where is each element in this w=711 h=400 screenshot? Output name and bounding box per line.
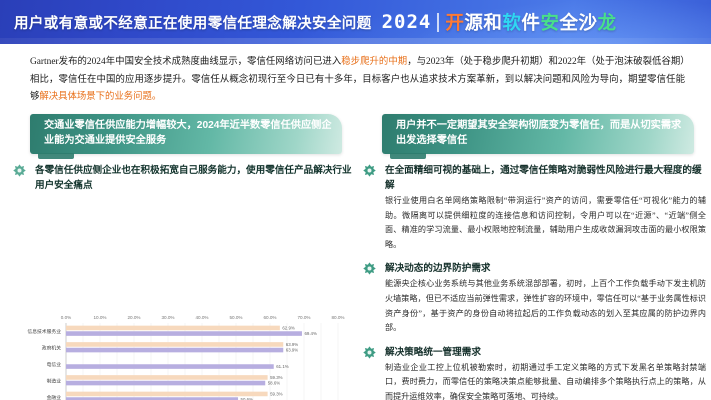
chart-bar bbox=[66, 392, 268, 397]
right-column: 用户并不一定期望其安全架构彻底变为零信任，而是从切实需求出发选择零信任 在全面精… bbox=[358, 114, 706, 400]
chart-value-label: 69.4% bbox=[304, 331, 317, 336]
right-bullet-list: 在全面精细可视的基础上，通过零信任策略对脆弱性风险进行最大程度的缓解银行业使用白… bbox=[358, 163, 706, 400]
brand-lockup: 2024 开源和软件安全沙龙 bbox=[382, 9, 617, 35]
right-bullet-1-title: 在全面精细可视的基础上，通过零信任策略对脆弱性风险进行最大程度的缓解 bbox=[385, 163, 706, 193]
chart-value-label: 58.6% bbox=[268, 381, 281, 386]
left-panel-heading: 交通业零信任供应能力增幅较大，2024年近半数零信任供应侧企业能为交通业提供安全… bbox=[30, 114, 342, 154]
brand-separator bbox=[437, 13, 439, 32]
brand-name-run-2: 软 bbox=[502, 12, 521, 33]
slide-header-banner: 用户或有意或不经意正在使用零信任理念解决安全问题 2024 开源和软件安全沙龙 bbox=[0, 0, 711, 44]
right-bullet-2-title: 解决动态的边界防护需求 bbox=[385, 261, 706, 276]
star-bullet-icon bbox=[363, 346, 376, 359]
industry-comparison-chart: 0.0%10.0%20.0%30.0%40.0%50.0%60.0%70.0%8… bbox=[16, 310, 356, 400]
chart-category-label: 政府机关 bbox=[42, 345, 61, 352]
brand-name: 开源和软件安全沙龙 bbox=[445, 9, 616, 35]
intro-run-3: 解决具体场景下的业务问题。 bbox=[39, 92, 161, 102]
chart-bar bbox=[66, 348, 283, 353]
right-bullet-3-body: 制造业企业工控上位机被勒索时，初期通过手工定义策略的方式下发黑名单策略封禁端口，… bbox=[385, 361, 706, 400]
right-bullet-2: 解决动态的边界防护需求能源央企核心业务系统与其他业务系统混部部署，初时，上百个工… bbox=[358, 261, 706, 335]
chart-xtick-label: 60.0% bbox=[263, 315, 276, 320]
chart-category-label: 制造业 bbox=[47, 378, 62, 385]
chart-value-label: 59.3% bbox=[270, 392, 283, 397]
chart-category-label: 信息技术服务业 bbox=[27, 328, 61, 335]
chart-value-label: 63.9% bbox=[286, 348, 299, 353]
chart-bar bbox=[66, 381, 265, 386]
chart-bar bbox=[66, 375, 268, 380]
chart-xtick-label: 30.0% bbox=[161, 315, 174, 320]
chart-xtick-label: 40.0% bbox=[195, 315, 208, 320]
chart-category-label: 金融业 bbox=[47, 394, 62, 400]
chart-xtick-label: 80.0% bbox=[331, 315, 344, 320]
left-bullet-1: 各零信任供应侧企业也在积极拓宽自己服务能力，使用零信任产品解决行业用户安全痛点 bbox=[8, 163, 353, 193]
chart-bar bbox=[66, 326, 280, 331]
star-bullet-icon bbox=[363, 262, 376, 275]
chart-xtick-label: 70.0% bbox=[297, 315, 310, 320]
brand-year: 2024 bbox=[382, 11, 432, 33]
chart-value-label: 63.9% bbox=[286, 342, 299, 347]
chart-svg: 0.0%10.0%20.0%30.0%40.0%50.0%60.0%70.0%8… bbox=[16, 310, 356, 400]
chart-value-label: 62.9% bbox=[282, 326, 295, 331]
star-bullet-icon bbox=[13, 164, 26, 177]
intro-run-0: Gartner发布的2024年中国安全技术成熟度曲线显示，零信任网络访问已进入 bbox=[30, 57, 341, 67]
chart-bar bbox=[66, 342, 283, 347]
intro-run-1: 稳步爬升的中期 bbox=[341, 57, 407, 67]
chart-bar bbox=[66, 331, 302, 336]
right-bullet-3: 解决策略统一管理需求制造业企业工控上位机被勒索时，初期通过手工定义策略的方式下发… bbox=[358, 345, 706, 400]
star-bullet-icon bbox=[363, 164, 376, 177]
right-bullet-3-title: 解决策略统一管理需求 bbox=[385, 345, 706, 360]
left-column: 交通业零信任供应能力增幅较大，2024年近半数零信任供应侧企业能为交通业提供安全… bbox=[8, 114, 353, 193]
intro-paragraph: Gartner发布的2024年中国安全技术成熟度曲线显示，零信任网络访问已进入稳… bbox=[30, 54, 685, 107]
chart-xtick-label: 0.0% bbox=[61, 315, 71, 320]
chart-xtick-label: 20.0% bbox=[127, 315, 140, 320]
right-bullet-2-body: 能源央企核心业务系统与其他业务系统混部部署，初时，上百个工作负载手动下发主机防火… bbox=[385, 277, 706, 335]
chart-category-label: 电信业 bbox=[47, 361, 62, 368]
brand-name-run-6: 龙 bbox=[597, 12, 616, 33]
brand-name-run-5: 全沙 bbox=[559, 12, 597, 33]
chart-value-label: 59.3% bbox=[270, 375, 283, 380]
left-bullet-1-title: 各零信任供应侧企业也在积极拓宽自己服务能力，使用零信任产品解决行业用户安全痛点 bbox=[35, 163, 353, 193]
page-title: 用户或有意或不经意正在使用零信任理念解决安全问题 bbox=[14, 12, 372, 33]
chart-xtick-label: 50.0% bbox=[229, 315, 242, 320]
chart-bar bbox=[66, 364, 274, 369]
brand-name-run-3: 件 bbox=[521, 12, 540, 33]
brand-name-run-0: 开 bbox=[445, 12, 464, 33]
chart-value-label: 61.1% bbox=[276, 364, 289, 369]
brand-name-run-4: 安 bbox=[540, 12, 559, 33]
right-bullet-1: 在全面精细可视的基础上，通过零信任策略对脆弱性风险进行最大程度的缓解银行业使用白… bbox=[358, 163, 706, 252]
brand-name-run-1: 源和 bbox=[464, 12, 502, 33]
header-content: 用户或有意或不经意正在使用零信任理念解决安全问题 2024 开源和软件安全沙龙 bbox=[14, 0, 704, 44]
slide-root: 用户或有意或不经意正在使用零信任理念解决安全问题 2024 开源和软件安全沙龙 … bbox=[0, 0, 711, 400]
right-panel-heading: 用户并不一定期望其安全架构彻底变为零信任，而是从切实需求出发选择零信任 bbox=[382, 114, 694, 154]
chart-xtick-label: 10.0% bbox=[93, 315, 106, 320]
right-bullet-1-body: 银行业使用白名单网络策略限制“带洞运行”资产的访问，需要零信任“可视化”能力的辅… bbox=[385, 194, 706, 252]
